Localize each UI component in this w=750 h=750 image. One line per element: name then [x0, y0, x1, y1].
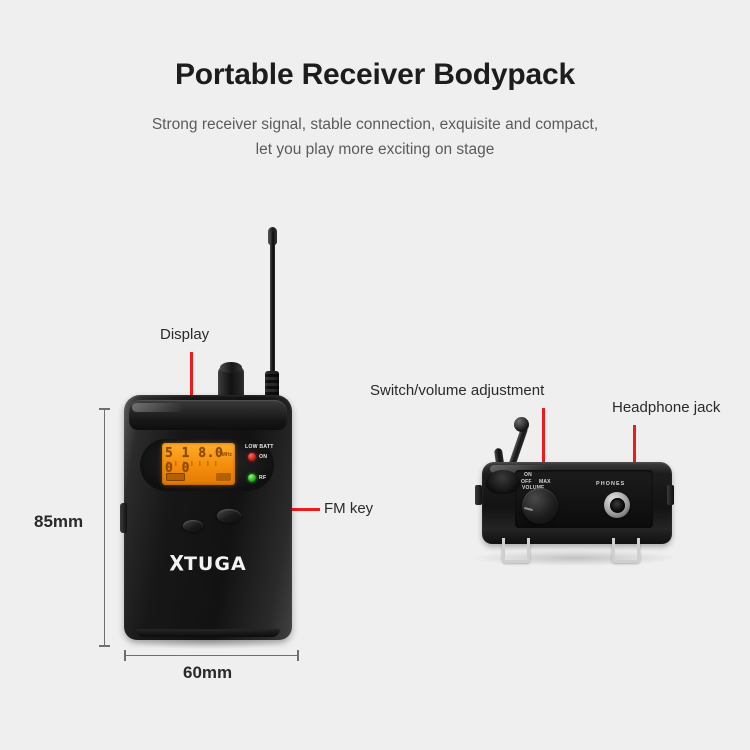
fm-key-button[interactable] [217, 509, 241, 523]
width-dimension-cap-left [124, 650, 126, 661]
infographic-canvas: Portable Receiver Bodypack Strong receiv… [0, 0, 750, 750]
secondary-button[interactable] [183, 520, 203, 532]
bodypack-housing [124, 395, 292, 640]
lcd-unit-label: MHz [222, 452, 232, 458]
callout-label-switch-volume: Switch/volume adjustment [370, 382, 544, 399]
lcd-channel-icon [216, 473, 231, 481]
lcd-battery-icon [166, 473, 185, 481]
housing-highlight [132, 403, 184, 412]
side-clip [120, 503, 127, 533]
flexible-antenna-base [486, 470, 520, 494]
top-volume-knob[interactable] [218, 367, 244, 397]
flexible-antenna-ball-tip [514, 417, 529, 432]
led-label-on: ON [259, 454, 267, 460]
rf-led [248, 474, 256, 482]
volume-knob[interactable] [522, 488, 558, 524]
bodypack-bottom-lip [136, 629, 280, 637]
page-title: Portable Receiver Bodypack [0, 58, 750, 92]
callout-label-headphone-jack: Headphone jack [612, 399, 720, 416]
low-batt-led [248, 453, 256, 461]
height-dimension-label: 85mm [34, 512, 83, 532]
brand-logo-text: TUGA [184, 553, 247, 575]
lcd-display: 5 1 8.0 0 0 MHz [162, 443, 235, 485]
width-dimension-line [124, 655, 298, 656]
page-subtitle: Strong receiver signal, stable connectio… [0, 112, 750, 162]
knob-label-on: ON [524, 472, 532, 478]
belt-clip-leg-right [612, 538, 640, 563]
led-label-low-batt: LOW BATT [245, 444, 274, 450]
lcd-scale-ticks [167, 461, 223, 466]
brand-logo-x: X [169, 552, 184, 577]
phones-jack-label: PHONES [596, 481, 625, 487]
belt-clip-leg-left [502, 538, 530, 563]
width-dimension-cap-right [297, 650, 299, 661]
receiver-bodypack-top-view: ON OFF MAX VOLUME PHONES [462, 430, 687, 570]
led-label-rf: RF [259, 475, 266, 481]
callout-label-display: Display [160, 326, 209, 343]
receiver-bodypack-front-view: 5 1 8.0 0 0 MHz LOW BATT ON RF XTUGA [120, 395, 298, 647]
top-view-side-tab-right [667, 485, 674, 505]
brand-logo: XTUGA [120, 553, 296, 575]
subtitle-line-2: let you play more exciting on stage [0, 137, 750, 162]
height-dimension-cap-bottom [99, 645, 110, 647]
callout-label-fm-key: FM key [324, 500, 373, 517]
subtitle-line-1: Strong receiver signal, stable connectio… [0, 112, 750, 137]
height-dimension-cap-top [99, 408, 110, 410]
height-dimension-line [104, 408, 105, 646]
top-view-side-tab-left [475, 485, 482, 505]
width-dimension-label: 60mm [183, 663, 232, 683]
headphone-jack-hole[interactable] [610, 498, 625, 513]
